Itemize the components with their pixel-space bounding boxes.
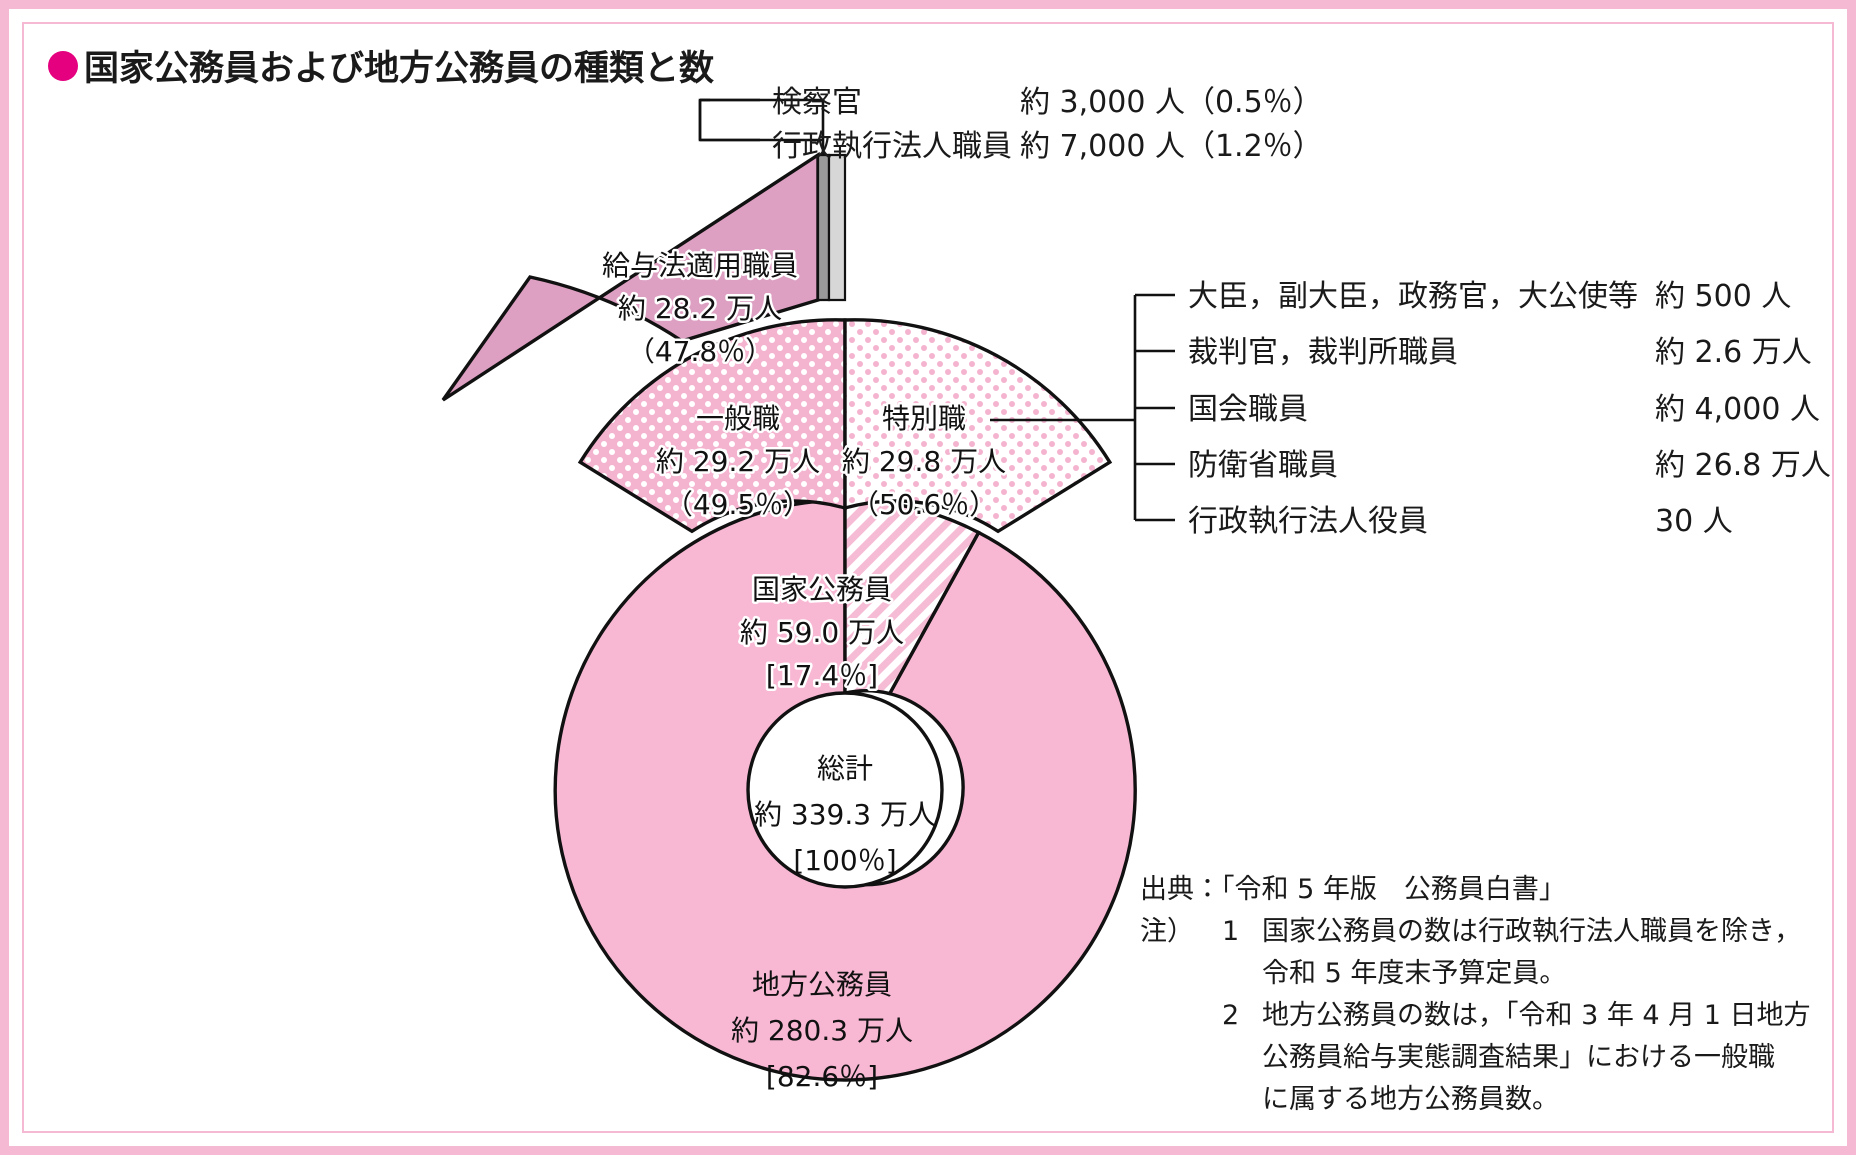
svg-text:約 29.8 万人: 約 29.8 万人 bbox=[842, 445, 1006, 478]
special-callout-label-2: 国会職員 bbox=[1188, 392, 1308, 427]
chart-page: 国家公務員および地方公務員の種類と数 bbox=[0, 0, 1856, 1155]
special-callout-value-0: 約 500 人 bbox=[1655, 279, 1791, 314]
top-callout-leader-lines-2 bbox=[700, 100, 760, 140]
source-text: 出典：「令和 5 年版 公務員白書」 bbox=[1140, 874, 1566, 905]
svg-text:国家公務員: 国家公務員 bbox=[752, 573, 892, 606]
svg-text:約 29.2 万人: 約 29.2 万人 bbox=[656, 445, 820, 478]
svg-text:特別職: 特別職 bbox=[882, 402, 966, 435]
svg-text:約 280.3 万人: 約 280.3 万人 bbox=[731, 1014, 913, 1047]
callout-admin-agency-label: 行政執行法人職員 bbox=[772, 129, 1012, 164]
slice-admin-exec-agency-staff bbox=[829, 155, 845, 300]
svg-text:約 28.2 万人: 約 28.2 万人 bbox=[618, 292, 782, 325]
callout-admin-agency-value: 約 7,000 人（1.2％） bbox=[1020, 129, 1323, 164]
svg-text:給与法適用職員: 給与法適用職員 bbox=[602, 249, 798, 282]
note-1-line-0: 国家公務員の数は行政執行法人職員を除き， bbox=[1262, 916, 1801, 947]
special-callout-label-4: 行政執行法人役員 bbox=[1188, 504, 1428, 539]
svg-text:（49.5％）: （49.5％） bbox=[665, 488, 811, 521]
svg-text:総計: 総計 bbox=[817, 752, 873, 785]
svg-text:（47.8％）: （47.8％） bbox=[627, 335, 773, 368]
special-callout-value-4: 30 人 bbox=[1655, 504, 1733, 539]
donut-chart: 検察官 約 3,000 人（0.5％） 行政執行法人職員 約 7,000 人（1… bbox=[0, 0, 1856, 1155]
svg-text:地方公務員: 地方公務員 bbox=[752, 968, 892, 1001]
svg-text:[100％]: [100％] bbox=[793, 844, 896, 877]
note-2-num: 2 bbox=[1222, 1000, 1239, 1031]
callout-prosecutors-label: 検察官 bbox=[772, 85, 862, 120]
note-2-line-0: 地方公務員の数は，「令和 3 年 4 月 1 日地方 bbox=[1262, 1000, 1811, 1031]
note-1-line-1: 令和 5 年度末予算定員。 bbox=[1262, 958, 1566, 989]
svg-text:一般職: 一般職 bbox=[696, 402, 780, 435]
callout-prosecutors-value: 約 3,000 人（0.5％） bbox=[1020, 85, 1323, 120]
notes-label: 注） bbox=[1140, 916, 1194, 947]
special-callout-value-3: 約 26.8 万人 bbox=[1655, 448, 1831, 483]
svg-text:約 59.0 万人: 約 59.0 万人 bbox=[740, 616, 904, 649]
special-callout-label-0: 大臣，副大臣，政務官，大公使等 bbox=[1188, 279, 1638, 314]
label-salary-law-staff: 給与法適用職員 約 28.2 万人 （47.8％） bbox=[602, 249, 798, 368]
svg-text:（50.6％）: （50.6％） bbox=[851, 488, 997, 521]
note-1-num: 1 bbox=[1222, 916, 1239, 947]
special-callout-value-1: 約 2.6 万人 bbox=[1655, 335, 1812, 370]
note-2-line-1: 公務員給与実態調査結果」における一般職 bbox=[1262, 1042, 1775, 1073]
special-callout-label-3: 防衛省職員 bbox=[1188, 448, 1338, 483]
svg-text:約 339.3 万人: 約 339.3 万人 bbox=[754, 798, 936, 831]
slice-prosecutors bbox=[818, 155, 829, 300]
note-2-line-2: に属する地方公務員数。 bbox=[1262, 1084, 1559, 1115]
svg-text:[82.6％]: [82.6％] bbox=[766, 1060, 878, 1093]
svg-text:[17.4％]: [17.4％] bbox=[766, 659, 878, 692]
special-callout-label-1: 裁判官，裁判所職員 bbox=[1188, 335, 1458, 370]
special-callout-value-2: 約 4,000 人 bbox=[1655, 392, 1820, 427]
